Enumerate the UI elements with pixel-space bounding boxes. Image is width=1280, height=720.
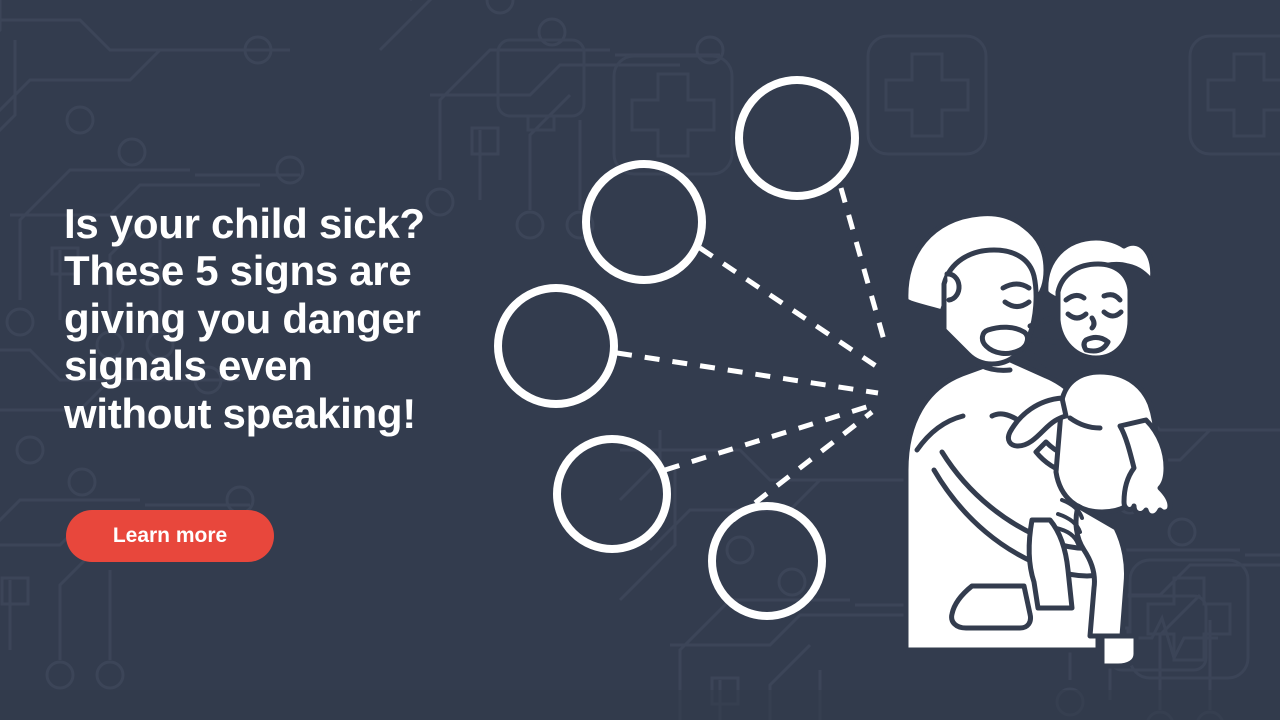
circuit-trace-bottom-right [1010,380,1280,720]
medical-cross-2 [1190,36,1280,154]
medical-cross-4 [1130,560,1248,678]
heart-rate-line [1128,618,1218,658]
medical-cross-1 [868,36,986,154]
symptom-hotspot-sore-throat[interactable] [496,286,616,406]
symptom-hotspot-thermometer-fever[interactable] [584,162,704,282]
connector-cough-top [841,188,884,340]
parent-holding-sick-child-illustration [906,214,1170,666]
connector-fever [700,248,876,366]
symptom-hotspot-fatigue[interactable] [555,437,669,551]
learn-more-button[interactable]: Learn more [66,510,274,562]
promo-banner: Is your child sick? These 5 signs are gi… [0,0,1280,720]
symptom-hotspot-headache[interactable] [710,504,824,618]
connector-sore-throat [617,353,878,393]
symptom-hotspot-coughing-child[interactable] [737,78,857,198]
page-title: Is your child sick? These 5 signs are gi… [64,200,494,437]
connector-headache [733,412,872,520]
connector-fatigue [665,404,876,470]
medical-cross-3 [614,56,732,174]
